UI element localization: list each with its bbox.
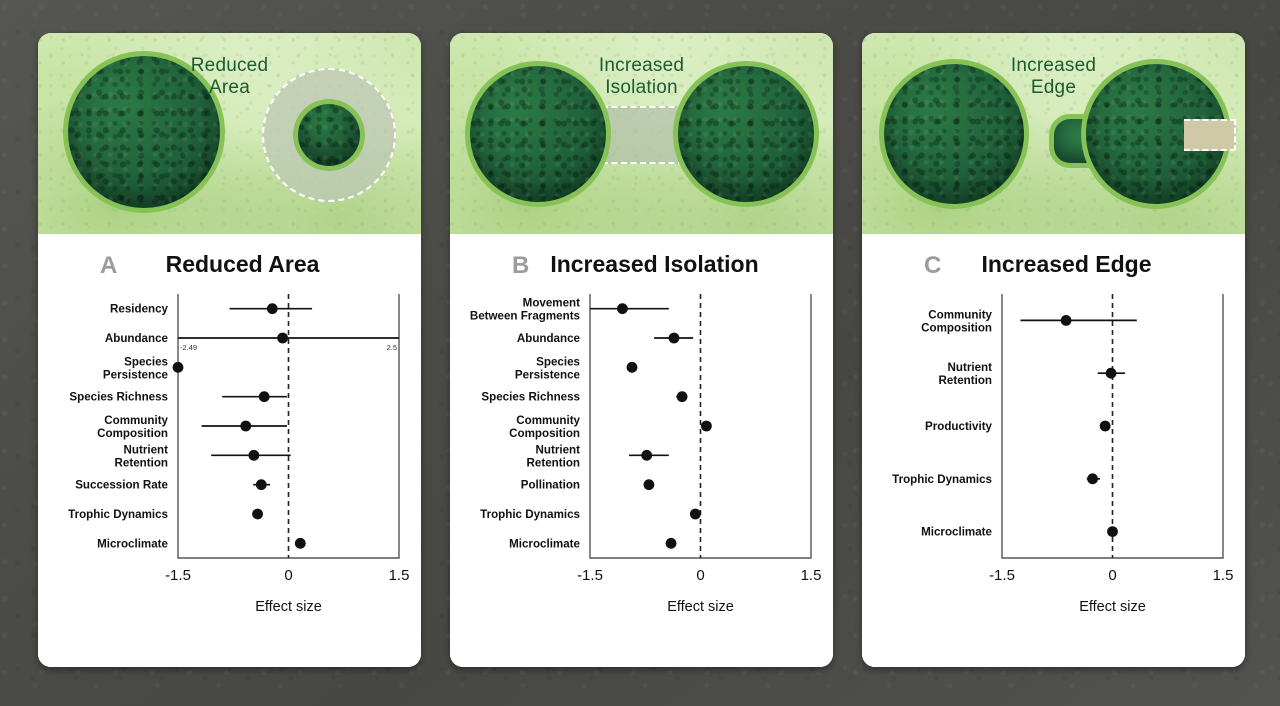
row-label: NutrientRetention <box>527 443 581 469</box>
row-label: Succession Rate <box>75 479 168 492</box>
row-label: SpeciesPersistence <box>103 355 169 381</box>
effect-size-point <box>669 333 680 344</box>
plot-row: Productivity <box>925 420 1111 433</box>
plot-row: NutrientRetention <box>527 443 669 469</box>
illustration-label: Increased Edge <box>862 55 1245 100</box>
x-tick-label: -1.5 <box>165 567 191 584</box>
plot-row: Residency <box>110 303 312 316</box>
forest-plot-c: CommunityCompositionNutrientRetentionPro… <box>862 290 1245 620</box>
forest-plot-a: ResidencyAbundanceSpeciesPersistenceSpec… <box>38 290 421 620</box>
panel-title-b: Increased Isolation <box>450 251 833 278</box>
x-tick-label: 0 <box>284 567 292 584</box>
row-label: Trophic Dynamics <box>480 508 580 521</box>
row-label: CommunityComposition <box>921 308 992 334</box>
plot-row: CommunityComposition <box>921 308 1137 334</box>
effect-size-point <box>644 479 655 490</box>
chart-header-b: B Increased Isolation <box>450 234 833 290</box>
effect-size-point <box>1106 368 1117 379</box>
forest-plot-svg-a: ResidencyAbundanceSpeciesPersistenceSpec… <box>38 290 421 620</box>
row-label: Trophic Dynamics <box>68 508 168 521</box>
effect-size-point <box>295 538 306 549</box>
illustration-label: Reduced Area <box>38 55 421 100</box>
plot-row: Succession Rate <box>75 479 270 492</box>
plot-row: Microclimate <box>97 537 306 550</box>
illustration-increased-edge: Increased Edge <box>862 33 1245 234</box>
plot-row: Microclimate <box>509 537 676 550</box>
ci-endpoint-label: -2.49 <box>180 343 197 352</box>
illustration-increased-isolation: Increased Isolation <box>450 33 833 234</box>
effect-size-point <box>1100 421 1111 432</box>
row-label: NutrientRetention <box>939 361 993 387</box>
plot-row: Pollination <box>521 479 655 492</box>
row-label: Abundance <box>105 332 169 345</box>
effect-size-point <box>677 391 688 402</box>
panel-reduced-area: Reduced Area A Reduced Area ResidencyAbu… <box>38 33 421 667</box>
x-tick-label: 1.5 <box>389 567 410 584</box>
panel-increased-edge: Increased Edge C Increased Edge Communit… <box>862 33 1245 667</box>
x-axis-title: Effect size <box>255 599 322 615</box>
forest-plot-svg-c: CommunityCompositionNutrientRetentionPro… <box>862 290 1245 620</box>
effect-size-point <box>627 362 638 373</box>
row-label: Trophic Dynamics <box>892 473 992 486</box>
effect-size-point <box>277 333 288 344</box>
effect-size-point <box>252 509 263 520</box>
row-label: Productivity <box>925 420 993 433</box>
edge-notch-clearing <box>1184 119 1236 151</box>
effect-size-point <box>259 391 270 402</box>
effect-size-point <box>1107 526 1118 537</box>
x-tick-label: -1.5 <box>577 567 603 584</box>
plot-row: MovementBetween Fragments <box>470 297 669 323</box>
x-tick-label: -1.5 <box>989 567 1015 584</box>
chart-area-b: B Increased Isolation MovementBetween Fr… <box>450 234 833 667</box>
row-label: Species Richness <box>69 391 168 404</box>
chart-header-a: A Reduced Area <box>38 234 421 290</box>
plot-row: NutrientRetention <box>939 361 1125 387</box>
effect-size-point <box>267 303 278 314</box>
plot-row: Trophic Dynamics <box>892 473 1100 486</box>
figure-root: Reduced Area A Reduced Area ResidencyAbu… <box>0 0 1280 706</box>
effect-size-point <box>240 421 251 432</box>
row-label: Microclimate <box>509 537 580 550</box>
row-label: CommunityComposition <box>97 414 168 440</box>
effect-size-point <box>690 509 701 520</box>
illustration-reduced-area: Reduced Area <box>38 33 421 234</box>
row-label: Species Richness <box>481 391 580 404</box>
effect-size-point <box>248 450 259 461</box>
row-label: NutrientRetention <box>115 443 169 469</box>
plot-row: SpeciesPersistence <box>515 355 637 381</box>
row-label: MovementBetween Fragments <box>470 297 580 323</box>
effect-size-point <box>701 421 712 432</box>
plot-row: CommunityComposition <box>509 414 712 440</box>
chart-area-a: A Reduced Area ResidencyAbundanceSpecies… <box>38 234 421 667</box>
panel-title-a: Reduced Area <box>38 251 421 278</box>
isolation-gap <box>602 106 684 164</box>
panel-increased-isolation: Increased Isolation B Increased Isolatio… <box>450 33 833 667</box>
effect-size-point <box>617 303 628 314</box>
row-label: Pollination <box>521 479 580 492</box>
row-label: SpeciesPersistence <box>515 355 581 381</box>
plot-row: Abundance <box>517 332 693 345</box>
row-label: CommunityComposition <box>509 414 580 440</box>
x-tick-label: 1.5 <box>1213 567 1234 584</box>
row-label: Microclimate <box>97 537 168 550</box>
x-tick-label: 0 <box>696 567 704 584</box>
plot-row: SpeciesPersistence <box>103 355 184 381</box>
chart-area-c: C Increased Edge CommunityCompositionNut… <box>862 234 1245 667</box>
row-label: Residency <box>110 303 169 316</box>
row-label: Microclimate <box>921 526 992 539</box>
plot-row: Abundance <box>105 332 399 345</box>
forest-plot-b: MovementBetween FragmentsAbundanceSpecie… <box>450 290 833 620</box>
chart-header-c: C Increased Edge <box>862 234 1245 290</box>
illustration-label: Increased Isolation <box>450 55 833 100</box>
effect-size-point <box>641 450 652 461</box>
panel-title-c: Increased Edge <box>862 251 1245 278</box>
effect-size-point <box>256 479 267 490</box>
plot-row: NutrientRetention <box>115 443 291 469</box>
plot-row: Microclimate <box>921 526 1118 539</box>
effect-size-point <box>1061 315 1072 326</box>
x-tick-label: 1.5 <box>801 567 822 584</box>
forest-patch-reduced <box>298 104 360 166</box>
row-label: Abundance <box>517 332 581 345</box>
x-axis-title: Effect size <box>1079 599 1146 615</box>
effect-size-point <box>666 538 677 549</box>
forest-plot-svg-b: MovementBetween FragmentsAbundanceSpecie… <box>450 290 833 620</box>
plot-row: Species Richness <box>481 391 687 404</box>
effect-size-point <box>173 362 184 373</box>
x-tick-label: 0 <box>1108 567 1116 584</box>
x-axis-title: Effect size <box>667 599 734 615</box>
ci-endpoint-label: 2.5 <box>387 343 397 352</box>
plot-row: Trophic Dynamics <box>68 508 263 521</box>
effect-size-point <box>1087 473 1098 484</box>
plot-row: CommunityComposition <box>97 414 287 440</box>
